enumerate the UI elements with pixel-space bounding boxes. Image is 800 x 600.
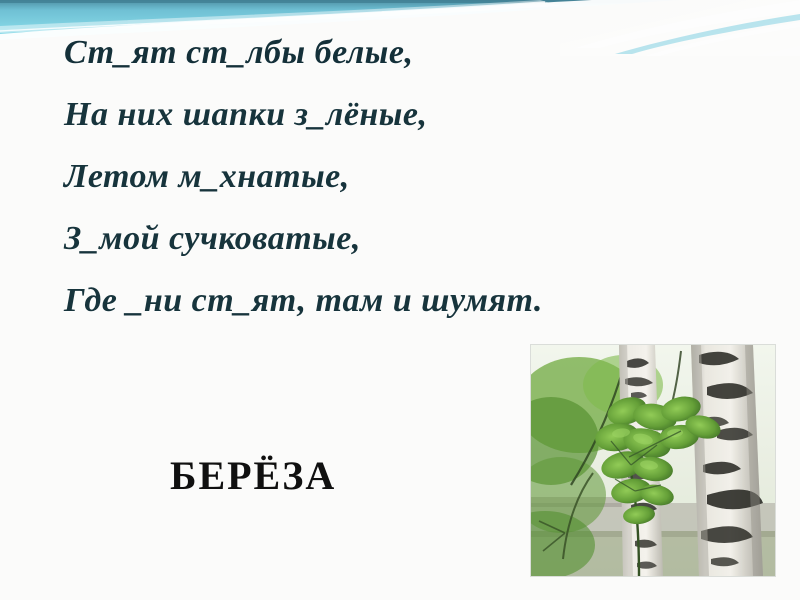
riddle-line-5: Где _ни ст_ят, там и шумят. [0, 270, 800, 332]
riddle-text-block: Ст_ят ст_лбы белые, На них шапки з_лёные… [0, 22, 800, 332]
riddle-line-1: Ст_ят ст_лбы белые, [0, 22, 800, 84]
birch-photo-graphic [531, 345, 775, 576]
riddle-line-2: На них шапки з_лёные, [0, 84, 800, 146]
riddle-line-4: З_мой сучковатые, [0, 208, 800, 270]
birch-trees-photo [531, 345, 775, 576]
slide-canvas: Ст_ят ст_лбы белые, На них шапки з_лёные… [0, 0, 800, 600]
answer-word: БЕРЁЗА [170, 452, 336, 499]
riddle-line-3: Летом м_хнатые, [0, 146, 800, 208]
